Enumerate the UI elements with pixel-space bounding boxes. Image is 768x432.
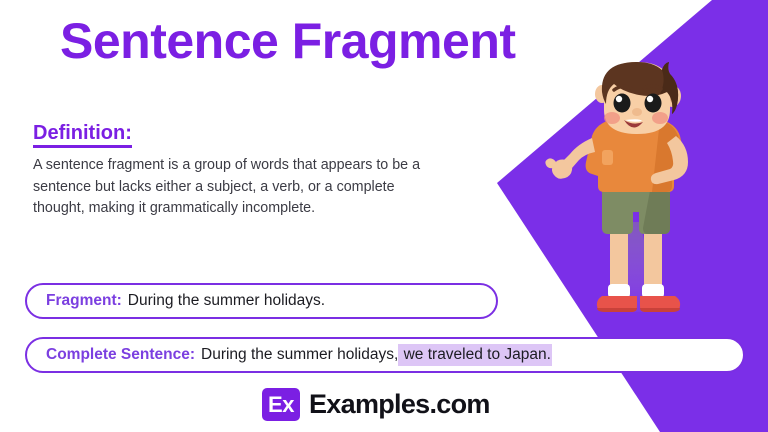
eye-right-highlight xyxy=(647,96,653,102)
eye-left-highlight xyxy=(616,96,622,102)
example-pill-complete-sentence: Complete Sentence: During the summer hol… xyxy=(25,337,745,373)
sock-right xyxy=(642,284,664,298)
example-pill-fragment: Fragment: During the summer holidays. xyxy=(25,283,498,319)
boy-pointing-illustration xyxy=(540,62,740,332)
example-text-highlight: we traveled to Japan. xyxy=(398,344,552,366)
shirt-pocket xyxy=(602,150,613,165)
shoe-left-sole xyxy=(597,308,637,312)
example-text-complete-sentence: During the summer holidays, we traveled … xyxy=(201,346,552,364)
nose xyxy=(632,108,642,116)
sock-left xyxy=(608,284,630,298)
examples-logo[interactable]: Ex Examples.com xyxy=(262,388,490,421)
logo-text: Examples.com xyxy=(309,389,490,420)
example-text-plain: During the summer holidays, xyxy=(201,346,398,363)
example-label-fragment: Fragment: xyxy=(46,292,122,310)
example-text-fragment: During the summer holidays. xyxy=(128,292,325,310)
definition-block: Definition: A sentence fragment is a gro… xyxy=(33,122,428,220)
cheek-right xyxy=(652,112,668,124)
cheek-left xyxy=(604,112,620,124)
page-title: Sentence Fragment xyxy=(60,12,516,70)
eye-left xyxy=(614,94,631,113)
definition-body: A sentence fragment is a group of words … xyxy=(33,155,428,220)
poster-canvas: Sentence Fragment Definition: A sentence… xyxy=(0,0,768,432)
shoe-right-sole xyxy=(640,308,680,312)
example-label-complete-sentence: Complete Sentence: xyxy=(46,346,195,364)
logo-mark-icon: Ex xyxy=(262,388,300,421)
definition-heading: Definition: xyxy=(33,122,132,148)
eye-right xyxy=(645,94,662,113)
